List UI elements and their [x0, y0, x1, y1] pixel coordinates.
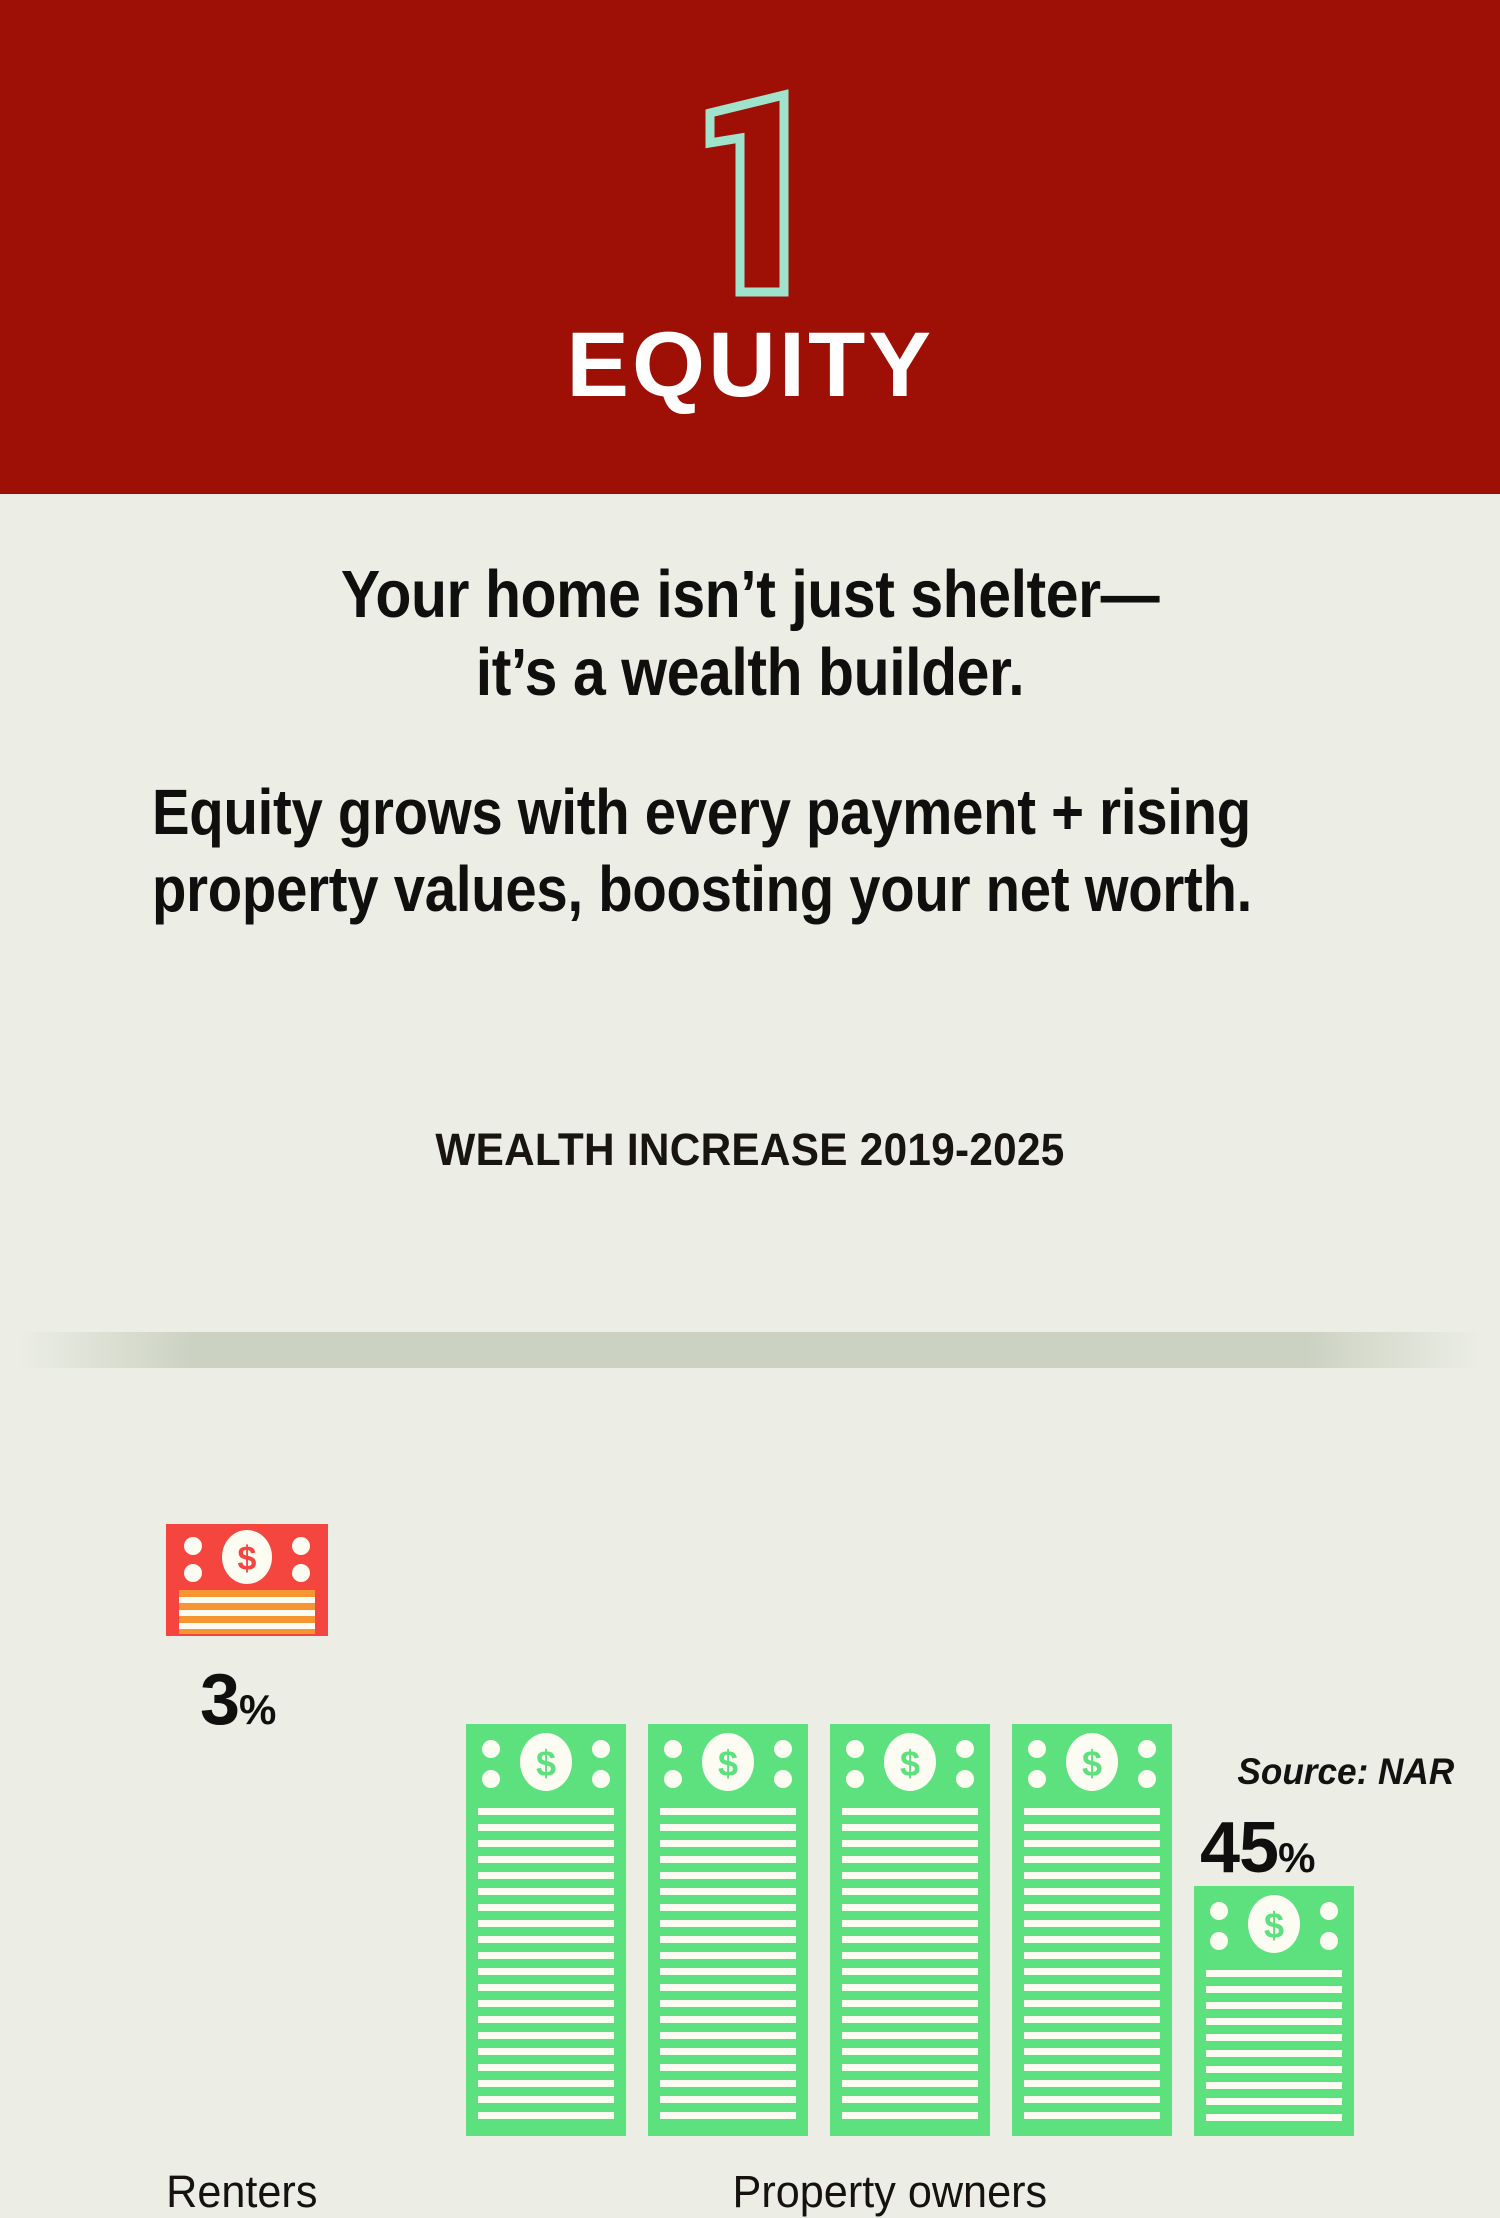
- money-bill-icon: $: [648, 1724, 808, 2136]
- svg-text:$: $: [1264, 1905, 1284, 1946]
- banner-title: EQUITY: [566, 319, 934, 411]
- money-bill-icon: $: [466, 1724, 626, 2136]
- header-banner: EQUITY: [0, 0, 1500, 494]
- bar-value-renters-unit: %: [239, 1686, 276, 1733]
- bar-owners-3: $: [830, 1724, 990, 2136]
- bar-value-renters-number: 3: [200, 1660, 239, 1740]
- chart-source: Source: NAR: [1237, 1751, 1454, 1793]
- bar-value-owners: 45%: [1200, 1812, 1315, 1884]
- svg-text:$: $: [536, 1743, 556, 1784]
- content-area: Your home isn’t just shelter— it’s a wea…: [0, 494, 1500, 1875]
- bar-owners-5: $: [1194, 1886, 1354, 2136]
- money-bill-icon: $: [1194, 1886, 1354, 2136]
- bar-value-owners-number: 45: [1200, 1808, 1278, 1888]
- chart-plot-area: $: [0, 494, 1500, 1875]
- step-numeral: [680, 86, 820, 301]
- outline-numeral-one-icon: [680, 86, 820, 301]
- bar-owners-2: $: [648, 1724, 808, 2136]
- bar-owners-4: $: [1012, 1724, 1172, 2136]
- money-bill-icon: $: [830, 1724, 990, 2136]
- axis-label-renters: Renters: [166, 2166, 317, 2218]
- bar-value-renters: 3%: [200, 1664, 276, 1736]
- bar-renters: $: [166, 1524, 328, 1636]
- svg-text:$: $: [718, 1743, 738, 1784]
- svg-text:$: $: [238, 1540, 257, 1578]
- bar-owners-1: $: [466, 1724, 626, 2136]
- money-bill-icon: $: [1012, 1724, 1172, 2136]
- svg-text:$: $: [900, 1743, 920, 1784]
- bar-value-owners-unit: %: [1278, 1834, 1315, 1881]
- axis-label-property-owners: Property owners: [733, 2166, 1048, 2218]
- wealth-increase-chart: WEALTH INCREASE 2019-2025 $: [0, 494, 1500, 1875]
- svg-text:$: $: [1082, 1743, 1102, 1784]
- money-bill-icon: $: [166, 1524, 328, 1636]
